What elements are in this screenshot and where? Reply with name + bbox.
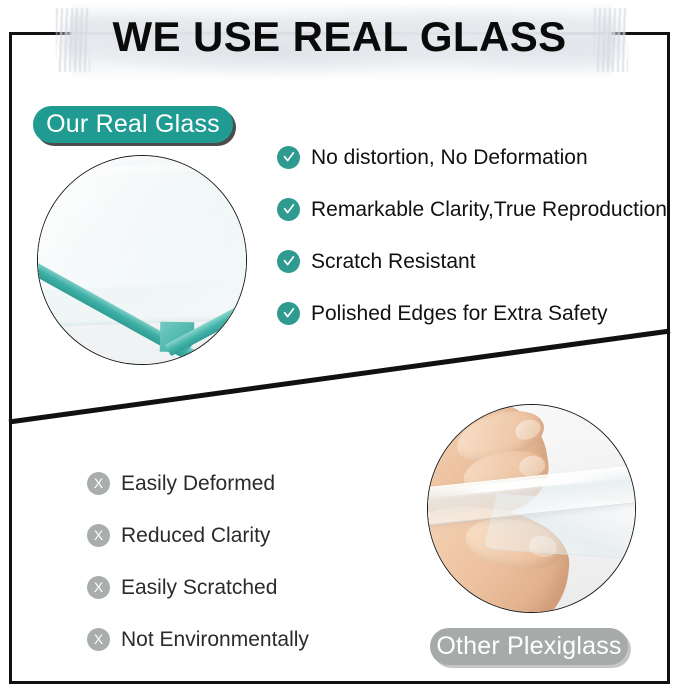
- list-item: X Not Environmentally: [87, 613, 309, 665]
- photo-other-plexiglass: [427, 404, 636, 613]
- badge-our-real-glass: Our Real Glass: [33, 106, 233, 143]
- badge-other-plexiglass: Other Plexiglass: [430, 628, 628, 665]
- list-item-label: Not Environmentally: [121, 629, 309, 650]
- check-circle-icon: [277, 198, 300, 221]
- glass-scene: [37, 155, 247, 365]
- list-item: Remarkable Clarity,True Reproduction: [277, 183, 667, 235]
- comparison-infographic: WE USE REAL GLASS Our Real Glass No dist…: [0, 0, 679, 691]
- list-item-label: Remarkable Clarity,True Reproduction: [311, 199, 667, 220]
- photo-real-glass: [37, 155, 247, 365]
- list-item-label: Polished Edges for Extra Safety: [311, 303, 608, 324]
- check-circle-icon: [277, 302, 300, 325]
- title-banner: WE USE REAL GLASS: [0, 0, 679, 86]
- glass-sheen: [37, 160, 247, 292]
- plexiglass-scene: [427, 404, 636, 613]
- list-item: X Easily Scratched: [87, 561, 309, 613]
- list-item-label: Easily Scratched: [121, 577, 277, 598]
- x-circle-icon: X: [87, 472, 110, 495]
- pros-list: No distortion, No Deformation Remarkable…: [277, 131, 667, 339]
- list-item: X Easily Deformed: [87, 457, 309, 509]
- list-item-label: Scratch Resistant: [311, 251, 476, 272]
- cons-list: X Easily Deformed X Reduced Clarity X Ea…: [87, 457, 309, 665]
- list-item-label: Easily Deformed: [121, 473, 275, 494]
- badge-label-bad: Other Plexiglass: [436, 632, 621, 661]
- check-circle-icon: [277, 250, 300, 273]
- list-item-label: No distortion, No Deformation: [311, 147, 588, 168]
- check-circle-icon: [277, 146, 300, 169]
- badge-label-good: Our Real Glass: [46, 110, 220, 139]
- list-item: X Reduced Clarity: [87, 509, 309, 561]
- list-item: Polished Edges for Extra Safety: [277, 287, 667, 339]
- page-title: WE USE REAL GLASS: [0, 13, 679, 61]
- x-circle-icon: X: [87, 576, 110, 599]
- list-item: No distortion, No Deformation: [277, 131, 667, 183]
- x-circle-icon: X: [87, 524, 110, 547]
- list-item: Scratch Resistant: [277, 235, 667, 287]
- x-circle-icon: X: [87, 628, 110, 651]
- list-item-label: Reduced Clarity: [121, 525, 270, 546]
